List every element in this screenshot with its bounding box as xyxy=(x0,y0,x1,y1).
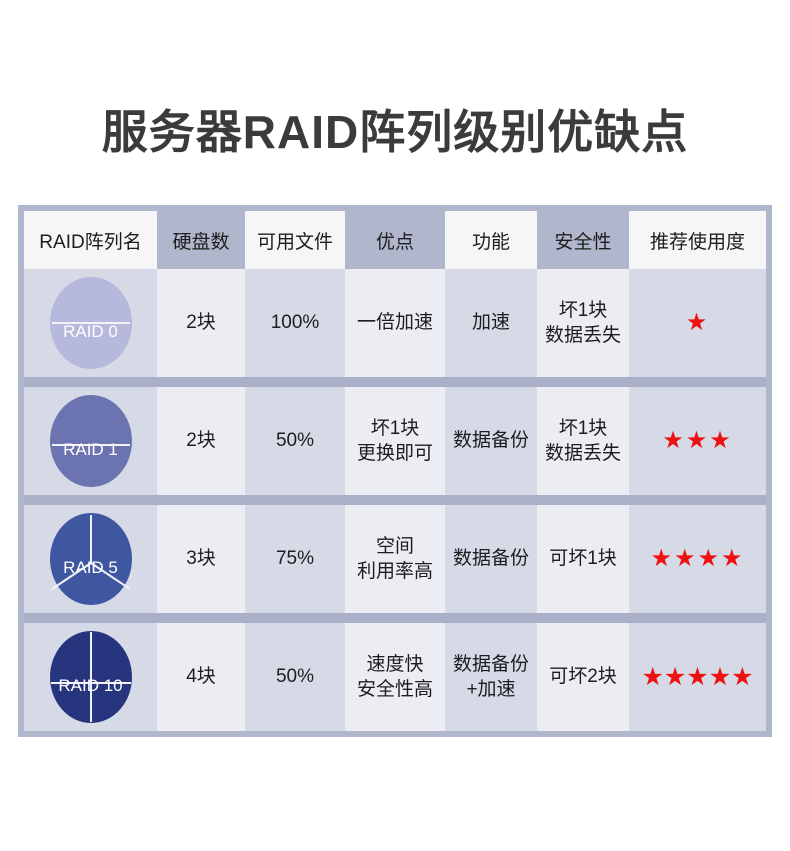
star-rating: ★★★★ xyxy=(629,547,766,571)
cell-usable-files: 50% xyxy=(245,387,345,495)
row-separator xyxy=(24,613,766,623)
cell-function-line2: +加速 xyxy=(445,677,537,702)
table-row: RAID 1 2块 50% 坏1块 更换即可 数据备份 坏1块 数据丢失 xyxy=(24,387,766,495)
row-separator xyxy=(24,495,766,505)
column-header-disk-count: 硬盘数 xyxy=(157,211,245,269)
cell-recommendation: ★★★★★ xyxy=(629,623,766,731)
raid-disc-label: RAID 5 xyxy=(63,559,118,576)
raid-comparison-table-container: RAID阵列名 硬盘数 可用文件 优点 功能 安全性 推荐使用度 RAID 0 xyxy=(18,205,772,737)
star-rating: ★★★★★ xyxy=(629,665,766,690)
cell-pros: 空间 利用率高 xyxy=(345,505,445,613)
table-row: RAID 0 2块 100% 一倍加速 加速 坏1块 数据丢失 xyxy=(24,269,766,377)
cell-usable-files: 100% xyxy=(245,269,345,377)
cell-safety-line2: 数据丢失 xyxy=(537,323,629,348)
column-header-usable-files: 可用文件 xyxy=(245,211,345,269)
cell-safety: 坏1块 数据丢失 xyxy=(537,269,629,377)
cell-recommendation: ★★★ xyxy=(629,387,766,495)
star-rating: ★★★ xyxy=(629,429,766,453)
cell-usable-files: 50% xyxy=(245,623,345,731)
cell-safety: 可坏1块 xyxy=(537,505,629,613)
cell-pros-line2: 利用率高 xyxy=(345,559,445,584)
table-header: RAID阵列名 硬盘数 可用文件 优点 功能 安全性 推荐使用度 xyxy=(24,211,766,269)
raid-disc-label: RAID 10 xyxy=(58,677,122,694)
raid-disc-cell: RAID 1 xyxy=(24,387,157,495)
cell-pros: 速度快 安全性高 xyxy=(345,623,445,731)
cell-disk-count: 2块 xyxy=(157,269,245,377)
star-rating: ★ xyxy=(629,311,766,335)
cell-pros-line1: 速度快 xyxy=(345,652,445,677)
cell-safety: 坏1块 数据丢失 xyxy=(537,387,629,495)
raid-disc-cell: RAID 5 xyxy=(24,505,157,613)
cell-function: 加速 xyxy=(445,269,537,377)
raid-disc-cell: RAID 0 xyxy=(24,269,157,377)
cell-disk-count: 2块 xyxy=(157,387,245,495)
cell-safety-line1: 坏1块 xyxy=(537,416,629,441)
cell-pros-line1: 空间 xyxy=(345,534,445,559)
page-title: 服务器RAID阵列级别优缺点 xyxy=(0,31,790,155)
cell-pros-line1: 一倍加速 xyxy=(345,310,445,335)
cell-safety-line1: 坏1块 xyxy=(537,298,629,323)
raid-disc-icon: RAID 10 xyxy=(50,631,132,723)
cell-pros-line2: 安全性高 xyxy=(345,677,445,702)
cell-function-line1: 加速 xyxy=(445,310,537,335)
column-header-raid-name: RAID阵列名 xyxy=(24,211,157,269)
cell-function: 数据备份 xyxy=(445,387,537,495)
raid-disc-icon: RAID 0 xyxy=(50,277,132,369)
cell-pros: 坏1块 更换即可 xyxy=(345,387,445,495)
cell-pros-line2: 更换即可 xyxy=(345,441,445,466)
cell-pros-line1: 坏1块 xyxy=(345,416,445,441)
column-header-recommendation: 推荐使用度 xyxy=(629,211,766,269)
cell-safety-line1: 可坏1块 xyxy=(537,546,629,571)
table-header-row: RAID阵列名 硬盘数 可用文件 优点 功能 安全性 推荐使用度 xyxy=(24,211,766,269)
cell-safety-line2: 数据丢失 xyxy=(537,441,629,466)
raid-disc-icon: RAID 1 xyxy=(50,395,132,487)
raid-disc-label: RAID 1 xyxy=(63,441,118,458)
row-separator xyxy=(24,377,766,387)
cell-function-line1: 数据备份 xyxy=(445,546,537,571)
cell-safety: 可坏2块 xyxy=(537,623,629,731)
cell-pros: 一倍加速 xyxy=(345,269,445,377)
raid-disc-label: RAID 0 xyxy=(63,323,118,340)
cell-function: 数据备份 +加速 xyxy=(445,623,537,731)
raid-disc-cell: RAID 10 xyxy=(24,623,157,731)
cell-recommendation: ★★★★ xyxy=(629,505,766,613)
cell-disk-count: 3块 xyxy=(157,505,245,613)
table-row: RAID 5 3块 75% 空间 利用率高 数据备份 可坏1块 xyxy=(24,505,766,613)
cell-function-line1: 数据备份 xyxy=(445,428,537,453)
raid-disc-icon: RAID 5 xyxy=(50,513,132,605)
cell-function: 数据备份 xyxy=(445,505,537,613)
column-header-pros: 优点 xyxy=(345,211,445,269)
raid-comparison-table: RAID阵列名 硬盘数 可用文件 优点 功能 安全性 推荐使用度 RAID 0 xyxy=(24,211,766,731)
cell-recommendation: ★ xyxy=(629,269,766,377)
column-header-safety: 安全性 xyxy=(537,211,629,269)
cell-safety-line1: 可坏2块 xyxy=(537,664,629,689)
table-row: RAID 10 4块 50% 速度快 安全性高 数据备份 +加速 可坏2块 xyxy=(24,623,766,731)
cell-function-line1: 数据备份 xyxy=(445,652,537,677)
cell-usable-files: 75% xyxy=(245,505,345,613)
cell-disk-count: 4块 xyxy=(157,623,245,731)
table-body: RAID 0 2块 100% 一倍加速 加速 坏1块 数据丢失 xyxy=(24,269,766,731)
column-header-function: 功能 xyxy=(445,211,537,269)
